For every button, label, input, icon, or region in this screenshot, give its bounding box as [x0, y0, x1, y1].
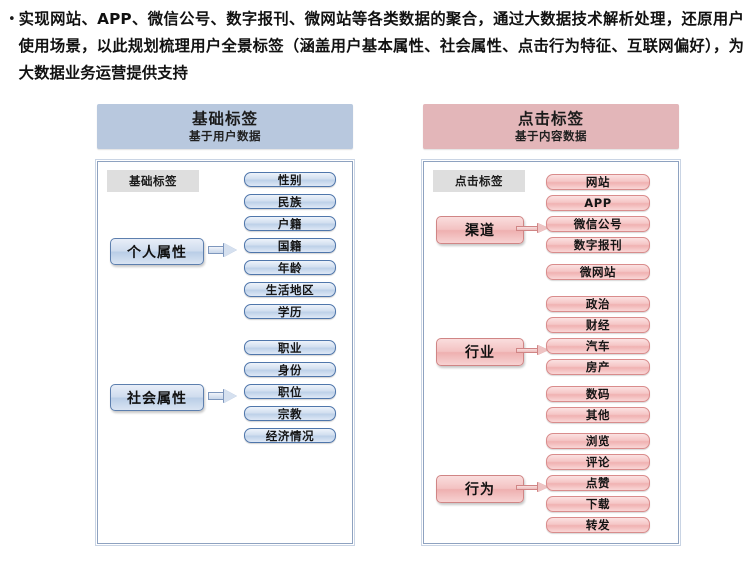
leaf-pill[interactable]: 点赞	[546, 475, 650, 491]
panel-basic-body: 基础标签 个人属性 性别 民族 户籍 国籍 年龄 生活地区 学历 社会属性 职业…	[97, 161, 353, 544]
category-channel[interactable]: 渠道	[436, 216, 524, 244]
leaf-pill[interactable]: 户籍	[244, 216, 336, 231]
panel-basic-tags: 基础标签 基于用户数据 基础标签 个人属性 性别 民族 户籍 国籍 年龄 生活地…	[97, 104, 353, 544]
leaf-pill[interactable]: 转发	[546, 517, 650, 533]
arrow-shaft	[516, 348, 540, 353]
panel-basic-inner-tag: 基础标签	[107, 170, 199, 192]
leaf-pill[interactable]: 生活地区	[244, 282, 336, 297]
leaf-pill[interactable]: 下载	[546, 496, 650, 512]
arrow-right-icon	[516, 223, 550, 234]
category-industry[interactable]: 行业	[436, 338, 524, 366]
leaf-pill[interactable]: APP	[546, 195, 650, 211]
leaf-pill[interactable]: 年龄	[244, 260, 336, 275]
panel-click-header: 点击标签 基于内容数据	[423, 104, 679, 149]
leaf-pill[interactable]: 民族	[244, 194, 336, 209]
panel-click-subtitle: 基于内容数据	[515, 129, 587, 144]
arrow-head	[224, 243, 237, 257]
leaf-pill[interactable]: 房产	[546, 359, 650, 375]
bullet-text: 实现网站、APP、微信公号、数字报刊、微网站等各类数据的聚合，通过大数据技术解析…	[19, 6, 744, 87]
leaf-pill[interactable]: 汽车	[546, 338, 650, 354]
arrow-head	[224, 389, 237, 403]
category-social-attributes[interactable]: 社会属性	[110, 384, 204, 411]
panel-click-inner-tag: 点击标签	[433, 170, 525, 192]
arrow-right-icon	[516, 345, 550, 356]
leaf-pill[interactable]: 学历	[244, 304, 336, 319]
leaf-pill[interactable]: 职业	[244, 340, 336, 355]
panel-basic-subtitle: 基于用户数据	[189, 129, 261, 144]
leaf-pill[interactable]: 政治	[546, 296, 650, 312]
panel-click-title: 点击标签	[518, 110, 584, 129]
leaf-pill[interactable]: 宗教	[244, 406, 336, 421]
category-behavior[interactable]: 行为	[436, 475, 524, 503]
leaf-pill[interactable]: 性别	[244, 172, 336, 187]
leaf-pill[interactable]: 身份	[244, 362, 336, 377]
leaf-pill[interactable]: 评论	[546, 454, 650, 470]
bullet-marker: •	[8, 6, 16, 33]
panel-click-body: 点击标签 渠道 网站 APP 微信公号 数字报刊 微网站 行业 政治 财经 汽车…	[423, 161, 679, 544]
arrow-right-icon	[516, 482, 550, 493]
leaf-pill[interactable]: 浏览	[546, 433, 650, 449]
panel-basic-title: 基础标签	[192, 110, 258, 129]
category-personal-attributes[interactable]: 个人属性	[110, 238, 204, 265]
leaf-pill[interactable]: 数字报刊	[546, 237, 650, 253]
panel-click-tags: 点击标签 基于内容数据 点击标签 渠道 网站 APP 微信公号 数字报刊 微网站…	[423, 104, 679, 544]
leaf-pill[interactable]: 职位	[244, 384, 336, 399]
leaf-pill[interactable]: 数码	[546, 386, 650, 402]
leaf-pill[interactable]: 微网站	[546, 264, 650, 280]
leaf-pill[interactable]: 财经	[546, 317, 650, 333]
leaf-pill[interactable]: 网站	[546, 174, 650, 190]
panel-basic-header: 基础标签 基于用户数据	[97, 104, 353, 149]
leaf-pill[interactable]: 其他	[546, 407, 650, 423]
leaf-pill[interactable]: 微信公号	[546, 216, 650, 232]
arrow-right-icon	[208, 243, 238, 257]
arrow-right-icon	[208, 389, 238, 403]
arrow-shaft	[516, 485, 540, 490]
arrow-shaft	[516, 226, 540, 231]
leaf-pill[interactable]: 经济情况	[244, 428, 336, 443]
leaf-pill[interactable]: 国籍	[244, 238, 336, 253]
bullet-paragraph: • 实现网站、APP、微信公号、数字报刊、微网站等各类数据的聚合，通过大数据技术…	[8, 6, 744, 87]
